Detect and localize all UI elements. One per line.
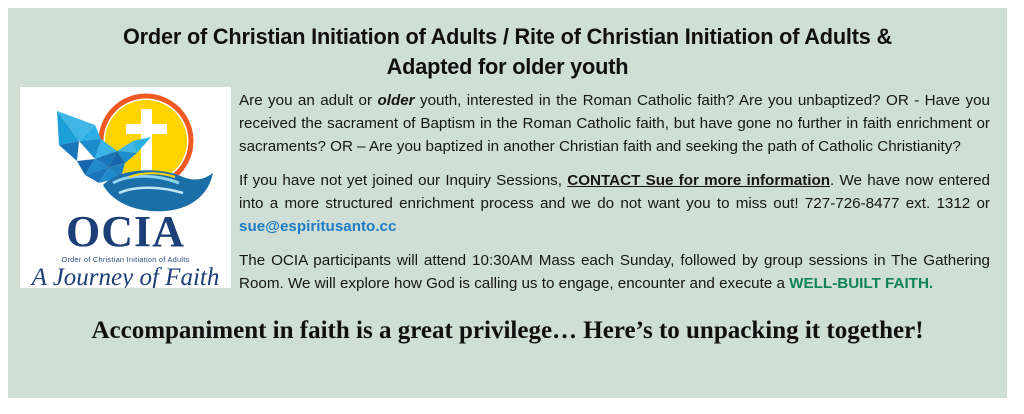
p2-text-a: If you have not yet joined our Inquiry S… [239,172,567,189]
page-title-line-2: Adapted for older youth [76,52,940,82]
page-title: Order of Christian Initiation of Adults … [8,8,1007,86]
ocia-logo: OCIA Order of Christian Initiation of Ad… [20,87,231,288]
flyer-container: Order of Christian Initiation of Adults … [8,8,1007,398]
p1-text-a: Are you an adult or [239,92,377,109]
page-title-line-1: Order of Christian Initiation of Adults … [76,22,940,52]
ocia-emblem-icon [33,89,223,215]
flyer-body: OCIA Order of Christian Initiation of Ad… [8,86,1007,295]
ocia-wordmark: OCIA [20,210,231,254]
contact-sue-link[interactable]: CONTACT Sue for more information [567,172,830,189]
well-built-faith-highlight: WELL-BUILT FAITH. [789,275,933,292]
paragraph-contact: If you have not yet joined our Inquiry S… [239,169,990,238]
ocia-logo-subtitle: Order of Christian Initiation of Adults [20,255,231,264]
p1-emphasis-older: older [377,92,414,109]
water-waves-icon [103,170,213,211]
closing-tagline: Accompaniment in faith is a great privil… [8,306,1007,347]
ocia-logo-tagline: A Journey of Faith [20,264,231,288]
email-link[interactable]: sue@espiritusanto.cc [239,218,396,235]
paragraph-invitation: Are you an adult or older youth, interes… [239,86,990,158]
